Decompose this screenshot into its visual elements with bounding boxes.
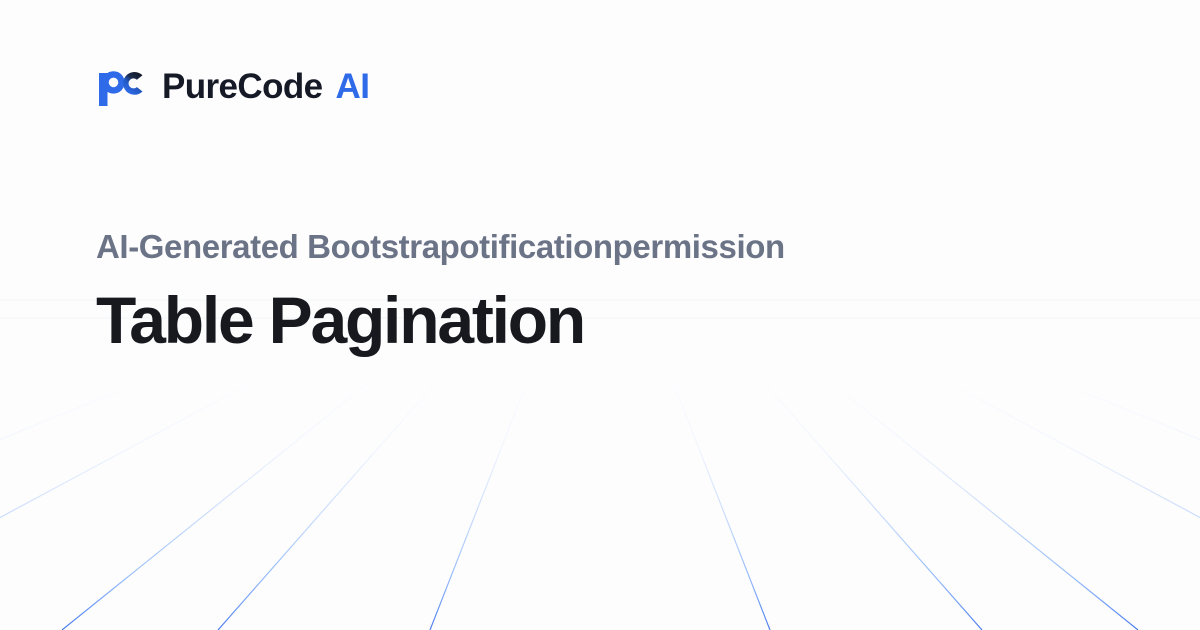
hero-eyebrow: AI-Generated Bootstrapotificationpermiss… <box>96 228 1116 267</box>
logo-brand-name: PureCode <box>162 69 323 104</box>
hero-text-block: AI-Generated Bootstrapotificationpermiss… <box>96 228 1116 356</box>
page-title: Table Pagination <box>96 285 1116 356</box>
brand-logo[interactable]: PureCode AI <box>96 60 369 112</box>
og-image-card: PureCode AI AI-Generated Bootstrapotific… <box>0 0 1200 630</box>
purecode-pc-monogram-icon <box>96 63 146 109</box>
logo-brand-suffix: AI <box>336 69 370 104</box>
logo-wordmark: PureCode AI <box>162 69 369 104</box>
